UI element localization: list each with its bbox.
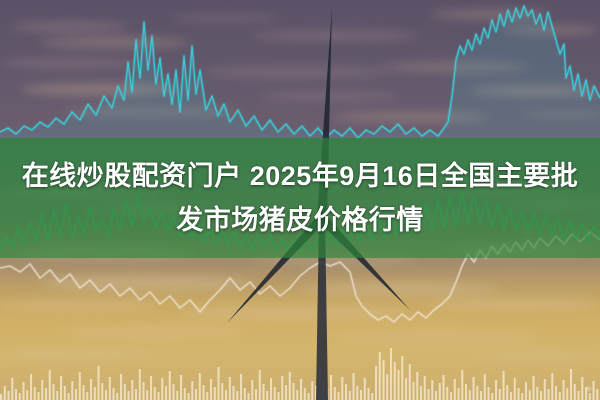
- watermark: ◈: [585, 384, 592, 393]
- banner-title: 在线炒股配资门户 2025年9月16日全国主要批 发市场猪皮价格行情: [0, 138, 600, 258]
- title-line-1: 在线炒股配资门户 2025年9月16日全国主要批: [22, 156, 579, 196]
- article-banner: 在线炒股配资门户 2025年9月16日全国主要批 发市场猪皮价格行情 ◈: [0, 0, 600, 400]
- title-line-2: 发市场猪皮价格行情: [176, 200, 424, 240]
